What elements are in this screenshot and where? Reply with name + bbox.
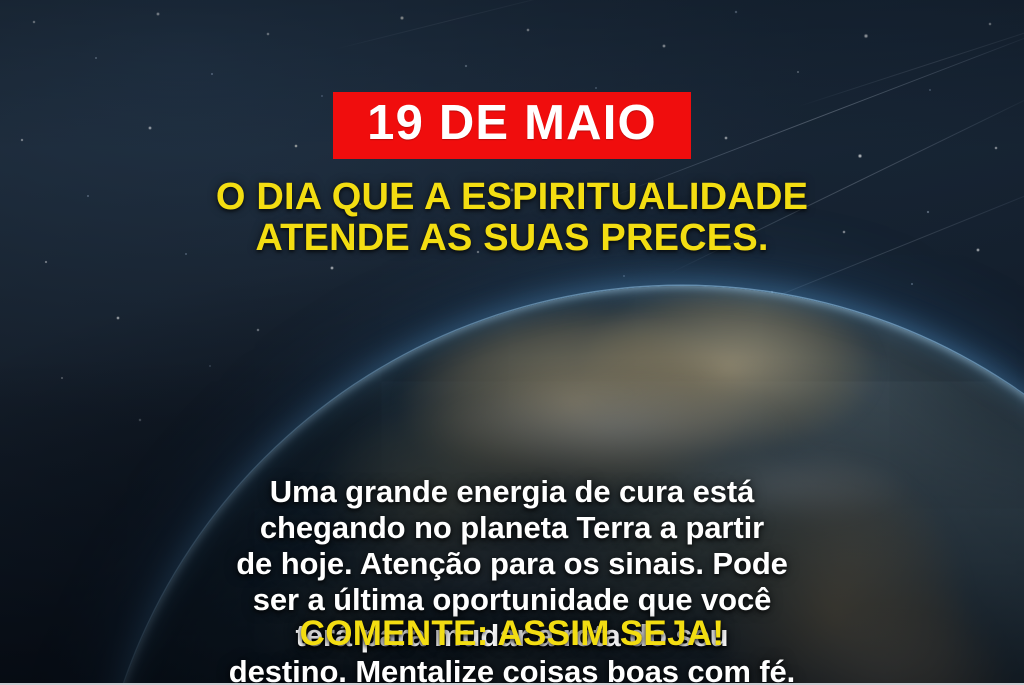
- call-to-action-text: COMENTE: ASSIM SEJA!: [300, 614, 725, 654]
- page-title: O DIA QUE A ESPIRITUALIDADE ATENDE AS SU…: [216, 177, 808, 259]
- body-line-6: destino. Mentalize coisas boas com fé.: [59, 654, 965, 685]
- poster-canvas: 19 DE MAIO O DIA QUE A ESPIRITUALIDADE A…: [0, 0, 1024, 685]
- body-line-2: chegando no planeta Terra a partir: [59, 510, 965, 546]
- body-line-4: ser a última oportunidade que você: [59, 582, 965, 618]
- body-line-1: Uma grande energia de cura está: [59, 474, 965, 510]
- body-line-3: de hoje. Atenção para os sinais. Pode: [59, 546, 965, 582]
- date-badge-label: 19 DE MAIO: [367, 99, 657, 148]
- poster-content: 19 DE MAIO O DIA QUE A ESPIRITUALIDADE A…: [0, 0, 1024, 685]
- date-badge: 19 DE MAIO: [333, 92, 691, 159]
- headline-line-1: O DIA QUE A ESPIRITUALIDADE: [216, 177, 808, 218]
- headline-line-2: ATENDE AS SUAS PRECES.: [216, 218, 808, 259]
